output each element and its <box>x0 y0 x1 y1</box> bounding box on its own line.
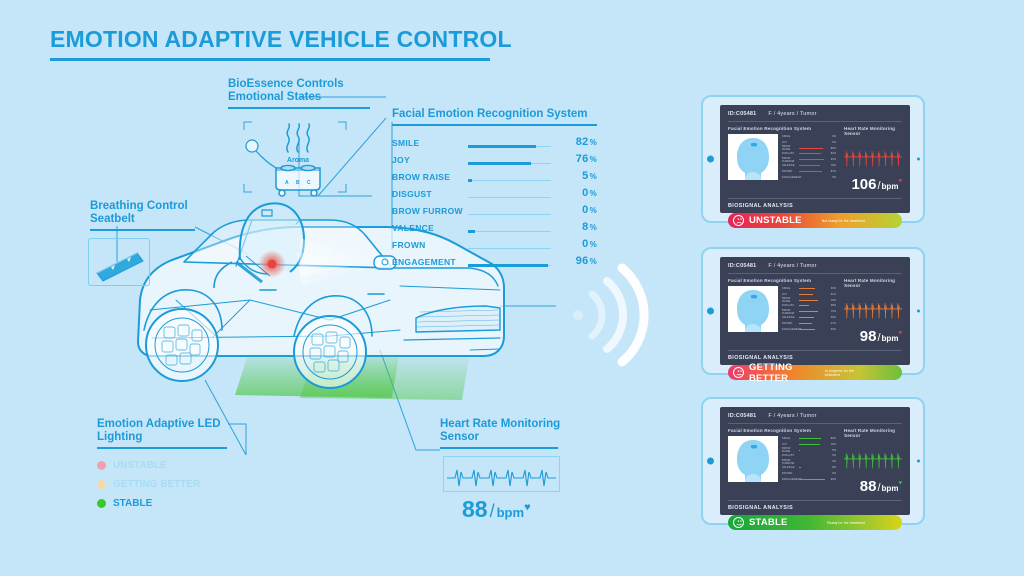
tablet-emotion-list: SMILE60%JOY51%BROW RAISE70%DISGUST38%BRO… <box>782 286 836 332</box>
tablet-emotion-label: VALENCE <box>782 164 799 167</box>
tablet-emotion-bar-fill <box>799 311 818 312</box>
led-color-dot <box>97 480 106 489</box>
tablet-emotion-bar-track <box>799 158 826 161</box>
tablet-ecg-chart <box>844 139 902 171</box>
tablet-emotion-bar-fill <box>799 288 815 289</box>
tablet-emotion-bar-track <box>799 135 826 138</box>
bpm-unit: bpm <box>497 505 524 520</box>
bioessence-label-line1: BioEssence Controls <box>228 78 370 91</box>
fer-row-bar-track <box>468 170 551 181</box>
tablet-emotion-bar-fill <box>799 438 821 439</box>
tablet-emotion-label: FROWN <box>782 472 799 475</box>
fer-row-bar-fill <box>468 230 475 233</box>
tablet-emotion-bar-track <box>799 322 826 325</box>
patient-id: ID:C05481F / 4years / Tumor <box>728 413 902 419</box>
driver-figure <box>214 203 304 288</box>
divider <box>728 198 902 199</box>
tablet-emotion-row: BROW FURROW0% <box>782 459 836 464</box>
tablet-emotion-value: 82% <box>828 152 836 155</box>
bioessence-underline <box>228 107 370 109</box>
bpm-slash: / <box>490 501 495 521</box>
fer-row-bar-fill <box>468 145 536 148</box>
tablet-emotion-label: JOY <box>782 443 799 446</box>
sad-face-icon <box>733 215 744 226</box>
led-state-list: UNSTABLEGETTING BETTERSTABLE <box>97 456 247 513</box>
tablet-emotion-bar-track <box>799 141 826 144</box>
tablet-emotion-row: BROW RAISE5% <box>782 448 836 453</box>
status-badge[interactable]: STABLEReady for the treatment <box>728 515 902 530</box>
tablet-emotion-label: DISGUST <box>782 454 799 457</box>
patient-meta: F / 4years / Tumor <box>768 413 816 419</box>
tablet-emotion-bar-track <box>799 437 826 440</box>
fer-row: VALENCE8% <box>392 216 597 233</box>
tablet-emotion-row: VALENCE76% <box>782 163 836 168</box>
tablet-emotion-bar-fill <box>799 444 820 445</box>
fer-row-bar-fill <box>468 162 531 165</box>
tablet-emotion-label: BROW FURROW <box>782 309 799 315</box>
tablet-bpm-slash: / <box>877 332 880 344</box>
tablet-emotion-row: BROW RAISE89% <box>782 146 836 151</box>
tablet-screen: ID:C05481F / 4years / TumorFacial Emotio… <box>720 257 910 365</box>
tablet-emotion-bar-fill <box>799 467 801 468</box>
led-color-dot <box>97 499 106 508</box>
tablet-emotion-row: SMILE60% <box>782 286 836 291</box>
tablet-bpm-readout: 106/bpm♥ <box>844 176 902 194</box>
tablet-emotion-label: JOY <box>782 293 799 296</box>
wheel-front <box>294 316 366 388</box>
tablet-emotion-value: 60% <box>828 328 836 331</box>
fer-row-value: 0% <box>557 204 597 216</box>
tablet-emotion-bar-track <box>799 176 826 179</box>
status-badge[interactable]: UNSTABLENot ready for the treatment <box>728 213 902 228</box>
status-badge[interactable]: GETTING BETTERIn progress for the treatm… <box>728 365 902 380</box>
title-block: EMOTION ADAPTIVE VEHICLE CONTROL <box>50 26 512 61</box>
breathing-underline <box>90 229 195 231</box>
tablet-emotion-value: 70% <box>828 299 836 302</box>
led-state-label: STABLE <box>113 498 152 509</box>
tablet-home-button[interactable] <box>707 458 714 465</box>
fer-row-label: SMILE <box>392 138 468 148</box>
tablet-bpm-value: 98 <box>860 328 877 345</box>
fer-row-label: BROW FURROW <box>392 206 468 216</box>
tablet-emotion-value: 0% <box>828 472 836 475</box>
tablet-emotion-bar-track <box>799 152 826 155</box>
fer-row: BROW FURROW0% <box>392 199 597 216</box>
facial-emotion-panel: Facial Emotion Recognition System SMILE8… <box>392 108 597 267</box>
tablet-emotion-bar-fill <box>799 479 825 480</box>
status-badge-text: UNSTABLE <box>749 215 802 226</box>
page-title: EMOTION ADAPTIVE VEHICLE CONTROL <box>50 26 512 53</box>
aroma-vapor <box>287 124 310 152</box>
tablet-emotion-value: 76% <box>828 443 836 446</box>
divider <box>728 500 902 501</box>
seatbelt-thumbnail <box>88 238 150 286</box>
biosignal-analysis-label: BIOSIGNAL ANALYSIS <box>728 203 902 209</box>
tablet-emotion-bar-track <box>799 304 826 307</box>
patient-id: ID:C05481F / 4years / Tumor <box>728 263 902 269</box>
heart-icon: ♥ <box>524 502 531 514</box>
led-state-label: UNSTABLE <box>113 460 167 471</box>
tablet-emotion-value: 0% <box>828 454 836 457</box>
tablet-home-button[interactable] <box>707 156 714 163</box>
led-state-item[interactable]: GETTING BETTER <box>97 475 247 494</box>
tablet-bpm-unit: bpm <box>882 484 899 493</box>
fer-row-label: ENGAGEMENT <box>392 257 468 267</box>
tablet-bpm-readout: 88/bpm♥ <box>844 478 902 496</box>
status-badge-text: GETTING BETTER <box>749 362 825 384</box>
led-state-item[interactable]: UNSTABLE <box>97 456 247 475</box>
cartridge-c: C <box>307 180 311 186</box>
fer-row-bar-track <box>468 221 551 232</box>
ecg-chart-box <box>443 456 560 492</box>
fer-row-value: 76% <box>557 153 597 165</box>
tablet-emotion-bar-track <box>799 164 826 167</box>
callout-heart-rate: Heart Rate Monitoring Sensor <box>440 418 570 449</box>
tablet-fer-title: Facial Emotion Recognition System <box>728 126 836 131</box>
tablet-bpm-unit: bpm <box>882 334 899 343</box>
tablet-emotion-value: 96% <box>828 478 836 481</box>
tablet-emotion-bar-track <box>799 443 826 446</box>
cartridge-b: B <box>296 180 300 186</box>
fer-row-bar-track <box>468 187 551 198</box>
tablet-bpm-value: 88 <box>860 478 877 495</box>
wheel-rear <box>146 309 218 381</box>
tablet-device[interactable]: ID:C05481F / 4years / TumorFacial Emotio… <box>701 397 925 525</box>
status-badge-note: In progress for the treatment <box>825 369 865 377</box>
tablet-emotion-bar-fill <box>799 294 813 295</box>
aroma-diffuser-illustration: Aroma A B C <box>240 118 350 198</box>
tablet-emotion-row: FROWN47% <box>782 321 836 326</box>
tablet-emotion-bar-track <box>799 299 826 302</box>
tablet-bpm-value: 106 <box>851 176 876 193</box>
tablet-emotion-label: ENGAGEMENT <box>782 328 799 331</box>
cartridge-a: A <box>285 180 289 186</box>
tablet-emotion-label: BROW FURROW <box>782 459 799 465</box>
wifi-signal-icon <box>573 268 644 362</box>
tablet-emotion-row: FROWN87% <box>782 169 836 174</box>
tablet-emotion-bar-fill <box>799 171 822 172</box>
tablet-bpm-slash: / <box>877 482 880 494</box>
tablet-emotion-bar-track <box>799 449 826 452</box>
divider <box>728 423 902 424</box>
tablet-emotion-label: ENGAGEMENT <box>782 478 799 481</box>
fer-row-value: 0% <box>557 187 597 199</box>
divider <box>728 121 902 122</box>
tablet-emotion-value: 87% <box>828 170 836 173</box>
tablet-emotion-value: 0% <box>828 135 836 138</box>
heart-sensor-hotspot <box>258 250 286 278</box>
facial-camera <box>296 238 396 286</box>
aroma-sensor-probe <box>246 140 276 168</box>
led-label-line1: Emotion Adaptive LED <box>97 418 247 431</box>
tablet-emotion-value: 0% <box>828 141 836 144</box>
tablet-emotion-row: ENGAGEMENT5% <box>782 174 836 179</box>
fer-row: ENGAGEMENT96% <box>392 250 597 267</box>
tablet-emotion-label: SMILE <box>782 437 799 440</box>
tablet-emotion-row: BROW RAISE70% <box>782 298 836 303</box>
tablet-camera-dot <box>917 460 920 463</box>
tablet-emotion-bar-track <box>799 310 826 313</box>
tablet-emotion-value: 5% <box>828 449 836 452</box>
tablet-bpm-readout: 98/bpm♥ <box>844 328 902 346</box>
heart-icon: ♥ <box>898 331 902 337</box>
tablet-emotion-list: SMILE0%JOY0%BROW RAISE89%DISGUST82%BROW … <box>782 134 836 180</box>
status-badge-note: Ready for the treatment <box>827 521 865 525</box>
bioessence-label-line2: Emotional States <box>228 91 370 104</box>
tablet-emotion-label: DISGUST <box>782 304 799 307</box>
tablet-emotion-label: SMILE <box>782 135 799 138</box>
tablet-emotion-bar-track <box>799 328 826 331</box>
tablet-emotion-bar-fill <box>799 323 812 324</box>
fer-row: JOY76% <box>392 148 597 165</box>
tablet-emotion-value: 56% <box>828 316 836 319</box>
tablet-emotion-bar-fill <box>799 177 800 178</box>
tablet-emotion-bar-fill <box>799 153 821 154</box>
status-badge-text: STABLE <box>749 517 788 528</box>
tablet-emotion-row: BROW FURROW71% <box>782 309 836 314</box>
callout-breathing-seatbelt: Breathing Control Seatbelt <box>90 200 210 231</box>
title-underline <box>50 58 490 61</box>
led-color-dot <box>97 461 106 470</box>
heart-sensor-dot <box>268 260 277 269</box>
tablet-emotion-bar-track <box>799 293 826 296</box>
fer-row-bar-fill <box>468 264 548 267</box>
bpm-readout: 88/bpm♥ <box>462 496 531 523</box>
tablet-screen: ID:C05481F / 4years / TumorFacial Emotio… <box>720 407 910 515</box>
tablet-emotion-label: FROWN <box>782 322 799 325</box>
tablet-camera-dot <box>917 158 920 161</box>
fer-row: FROWN0% <box>392 233 597 250</box>
neutral-face-icon <box>733 367 744 378</box>
tablet-camera-dot <box>917 310 920 313</box>
tablet-emotion-value: 76% <box>828 164 836 167</box>
tablet-emotion-label: DISGUST <box>782 152 799 155</box>
tablet-emotion-label: SMILE <box>782 287 799 290</box>
fer-row-bar-track <box>468 204 551 215</box>
fer-row-value: 82% <box>557 136 597 148</box>
fer-row-bar-track <box>468 238 551 249</box>
tablet-emotion-bar-track <box>799 287 826 290</box>
tablet-emotion-value: 8% <box>828 466 836 469</box>
tablet-emotion-row: VALENCE8% <box>782 465 836 470</box>
tablet-emotion-row: ENGAGEMENT60% <box>782 326 836 331</box>
tablet-emotion-label: BROW RAISE <box>782 447 799 453</box>
tablet-emotion-row: FROWN0% <box>782 471 836 476</box>
led-state-label: GETTING BETTER <box>113 479 200 490</box>
tablet-emotion-bar-track <box>799 316 826 319</box>
tablet-emotion-bar-track <box>799 478 826 481</box>
breathing-label-line2: Seatbelt <box>90 213 210 226</box>
hrm-label-line2: Sensor <box>440 431 570 444</box>
callout-bioessence: BioEssence Controls Emotional States <box>228 78 370 109</box>
fer-row-value: 96% <box>557 255 597 267</box>
tablet-emotion-value: 51% <box>828 293 836 296</box>
fer-row-bar-track <box>468 255 551 266</box>
tablet-emotion-bar-fill <box>799 159 824 160</box>
tablet-emotion-label: VALENCE <box>782 466 799 469</box>
tablet-emotion-bar-track <box>799 147 826 150</box>
tablet-emotion-row: VALENCE56% <box>782 315 836 320</box>
tablet-device[interactable]: ID:C05481F / 4years / TumorFacial Emotio… <box>701 95 925 223</box>
seatbelt-illustration <box>89 239 151 287</box>
patient-face-thumbnail <box>728 134 778 180</box>
tablet-emotion-bar-fill <box>799 305 809 306</box>
patient-id: ID:C05481F / 4years / Tumor <box>728 111 902 117</box>
fer-row: DISGUST0% <box>392 182 597 199</box>
tablet-emotion-value: 82% <box>828 437 836 440</box>
fer-row: SMILE82% <box>392 131 597 148</box>
tablet-emotion-bar-track <box>799 472 826 475</box>
tablet-emotion-bar-track <box>799 170 826 173</box>
tablet-emotion-row: BROW FURROW91% <box>782 157 836 162</box>
tablet-fer-title: Facial Emotion Recognition System <box>728 278 836 283</box>
fer-row-bar-track <box>468 153 551 164</box>
led-glow <box>235 348 470 400</box>
tablet-emotion-value: 71% <box>828 310 836 313</box>
patient-face-thumbnail <box>728 436 778 482</box>
divider <box>728 273 902 274</box>
tablet-bpm-slash: / <box>877 180 880 192</box>
tablet-emotion-label: FROWN <box>782 170 799 173</box>
fer-row: BROW RAISE5% <box>392 165 597 182</box>
tablet-emotion-bar-fill <box>799 148 823 149</box>
fer-row-label: BROW RAISE <box>392 172 468 182</box>
patient-meta: F / 4years / Tumor <box>768 111 816 117</box>
tablet-emotion-bar-fill <box>799 300 818 301</box>
aroma-label: Aroma <box>287 157 309 164</box>
tablet-hrm-title: Heart Rate Monitoring Sensor <box>844 428 902 438</box>
tablet-emotion-bar-fill <box>799 450 800 451</box>
tablet-ecg-chart <box>844 441 902 473</box>
patient-meta: F / 4years / Tumor <box>768 263 816 269</box>
tablet-screen: ID:C05481F / 4years / TumorFacial Emotio… <box>720 105 910 213</box>
patient-face-thumbnail <box>728 286 778 332</box>
tablet-emotion-bar-fill <box>799 165 820 166</box>
fer-row-value: 0% <box>557 238 597 250</box>
tablet-emotion-list: SMILE82%JOY76%BROW RAISE5%DISGUST0%BROW … <box>782 436 836 482</box>
heart-icon: ♥ <box>898 481 902 487</box>
tablet-emotion-value: 89% <box>828 147 836 150</box>
tablet-emotion-label: BROW RAISE <box>782 145 799 151</box>
status-badge-note: Not ready for the treatment <box>822 219 865 223</box>
fer-underline <box>392 124 597 126</box>
led-label-line2: Lighting <box>97 431 247 444</box>
fer-row-value: 5% <box>557 170 597 182</box>
fer-row-label: VALENCE <box>392 223 468 233</box>
tablet-bpm-unit: bpm <box>882 182 899 191</box>
divider <box>728 350 902 351</box>
tablet-emotion-row: SMILE82% <box>782 436 836 441</box>
tablet-ecg-chart <box>844 291 902 323</box>
tablet-emotion-value: 0% <box>828 460 836 463</box>
tablet-emotion-label: ENGAGEMENT <box>782 176 799 179</box>
tablet-emotion-bar-fill <box>799 317 814 318</box>
biosignal-analysis-label: BIOSIGNAL ANALYSIS <box>728 355 902 361</box>
tablet-emotion-value: 91% <box>828 158 836 161</box>
fer-title: Facial Emotion Recognition System <box>392 108 597 121</box>
biosignal-analysis-label: BIOSIGNAL ANALYSIS <box>728 505 902 511</box>
tablet-emotion-bar-track <box>799 460 826 463</box>
tablet-emotion-label: JOY <box>782 141 799 144</box>
hrm-underline <box>440 447 558 449</box>
tablet-emotion-bar-track <box>799 454 826 457</box>
fer-row-label: DISGUST <box>392 189 468 199</box>
tablet-emotion-value: 38% <box>828 304 836 307</box>
tablet-home-button[interactable] <box>707 308 714 315</box>
fer-row-list: SMILE82%JOY76%BROW RAISE5%DISGUST0%BROW … <box>392 131 597 267</box>
fer-row-value: 8% <box>557 221 597 233</box>
tablet-emotion-label: BROW RAISE <box>782 297 799 303</box>
fer-row-label: JOY <box>392 155 468 165</box>
bpm-value: 88 <box>462 496 488 522</box>
tablet-emotion-value: 47% <box>828 322 836 325</box>
tablet-emotion-value: 60% <box>828 287 836 290</box>
tablet-device[interactable]: ID:C05481F / 4years / TumorFacial Emotio… <box>701 247 925 375</box>
heart-icon: ♥ <box>898 179 902 185</box>
tablet-emotion-bar-fill <box>799 329 815 330</box>
fer-row-bar-fill <box>468 179 472 182</box>
breathing-label-line1: Breathing Control <box>90 200 210 213</box>
tablet-emotion-row: SMILE0% <box>782 134 836 139</box>
led-state-item[interactable]: STABLE <box>97 494 247 513</box>
fer-row-label: FROWN <box>392 240 468 250</box>
tablet-emotion-value: 5% <box>828 176 836 179</box>
tablet-fer-title: Facial Emotion Recognition System <box>728 428 836 433</box>
tablet-hrm-title: Heart Rate Monitoring Sensor <box>844 126 902 136</box>
led-underline <box>97 447 227 449</box>
fer-row-bar-track <box>468 136 551 147</box>
smile-face-icon <box>733 517 744 528</box>
tablet-hrm-title: Heart Rate Monitoring Sensor <box>844 278 902 288</box>
tablet-emotion-label: BROW FURROW <box>782 157 799 163</box>
hrm-label-line1: Heart Rate Monitoring <box>440 418 570 431</box>
tablet-emotion-label: VALENCE <box>782 316 799 319</box>
callout-led-lighting: Emotion Adaptive LED Lighting UNSTABLEGE… <box>97 418 247 513</box>
tablet-emotion-bar-track <box>799 466 826 469</box>
tablet-emotion-row: ENGAGEMENT96% <box>782 476 836 481</box>
